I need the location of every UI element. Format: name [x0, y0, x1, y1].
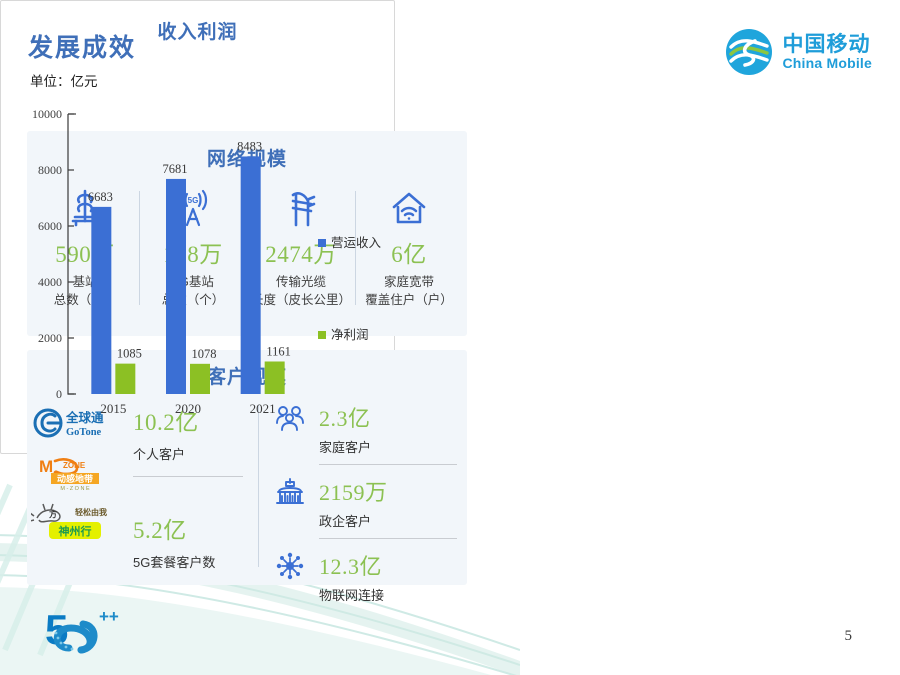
iot-network-icon	[273, 549, 307, 583]
revenue-profit-chart-panel: 收入利润 单位：亿元 02000400060008000100006683108…	[0, 0, 395, 454]
china-mobile-logo: 中国移动 China Mobile	[725, 28, 872, 76]
stat-label: 物联网连接	[319, 585, 384, 604]
stat-value: 12.3亿	[319, 549, 384, 581]
svg-text:ZONE: ZONE	[63, 461, 86, 470]
svg-text:8483: 8483	[237, 139, 262, 153]
page-number: 5	[845, 628, 853, 645]
svg-text:1085: 1085	[117, 347, 142, 361]
5g-plus-plus-logo: 5 ++	[45, 600, 140, 660]
brand-name-cn: 中国移动	[782, 34, 872, 56]
svg-text:2020: 2020	[175, 401, 201, 416]
easyown-logo: 方 轻松由我 神州行	[31, 501, 127, 545]
mzone-logo: M ZONE 动感地带 M - Z O N E	[33, 451, 125, 495]
stat-label: 个人客户	[133, 444, 259, 463]
svg-text:7681: 7681	[163, 162, 188, 176]
svg-text:0: 0	[56, 387, 62, 401]
svg-text:营运收入: 营运收入	[331, 236, 382, 250]
brand-name-en: China Mobile	[782, 56, 872, 71]
svg-text:8000: 8000	[38, 163, 62, 177]
stat-text: 2159万 政企客户	[319, 475, 388, 530]
china-mobile-mark-icon	[725, 28, 773, 76]
divider	[133, 476, 243, 477]
svg-text:动感地带: 动感地带	[57, 473, 93, 484]
stat-value: 2159万	[319, 475, 388, 507]
slide-root: 发展成效 中国移动 China Mobile 网络规模	[0, 0, 900, 675]
page-title: 发展成效	[28, 28, 136, 64]
customer-stat-government: 2159万 政企客户	[273, 471, 467, 530]
stat-text: 12.3亿 物联网连接	[319, 549, 384, 604]
divider	[319, 464, 457, 465]
svg-text:2021: 2021	[250, 401, 276, 416]
customer-stat-5g-package: 5.2亿 5G套餐客户数	[133, 485, 259, 571]
svg-text:++: ++	[99, 607, 119, 626]
svg-text:6683: 6683	[88, 190, 113, 204]
svg-text:6000: 6000	[38, 219, 62, 233]
svg-text:方: 方	[49, 509, 57, 519]
government-building-icon	[273, 475, 307, 509]
svg-text:净利润: 净利润	[331, 328, 369, 342]
customer-stat-iot: 12.3亿 物联网连接	[273, 545, 467, 604]
svg-text:10000: 10000	[32, 107, 62, 121]
svg-text:1161: 1161	[266, 344, 291, 358]
revenue-profit-bar-chart: 0200040006000800010000668310852015768110…	[0, 96, 393, 446]
svg-text:2015: 2015	[100, 401, 126, 416]
svg-text:2000: 2000	[38, 331, 62, 345]
svg-text:M - Z O N E: M - Z O N E	[60, 486, 90, 492]
stat-label: 政企客户	[319, 511, 388, 530]
svg-text:1078: 1078	[192, 347, 217, 361]
svg-text:轻松由我: 轻松由我	[75, 507, 107, 517]
stat-label: 5G套餐客户数	[133, 552, 259, 571]
divider	[319, 538, 457, 539]
chart-unit-note: 单位：亿元	[30, 70, 98, 90]
stat-value: 5.2亿	[133, 511, 259, 545]
svg-text:神州行: 神州行	[59, 524, 92, 538]
svg-text:4000: 4000	[38, 275, 62, 289]
